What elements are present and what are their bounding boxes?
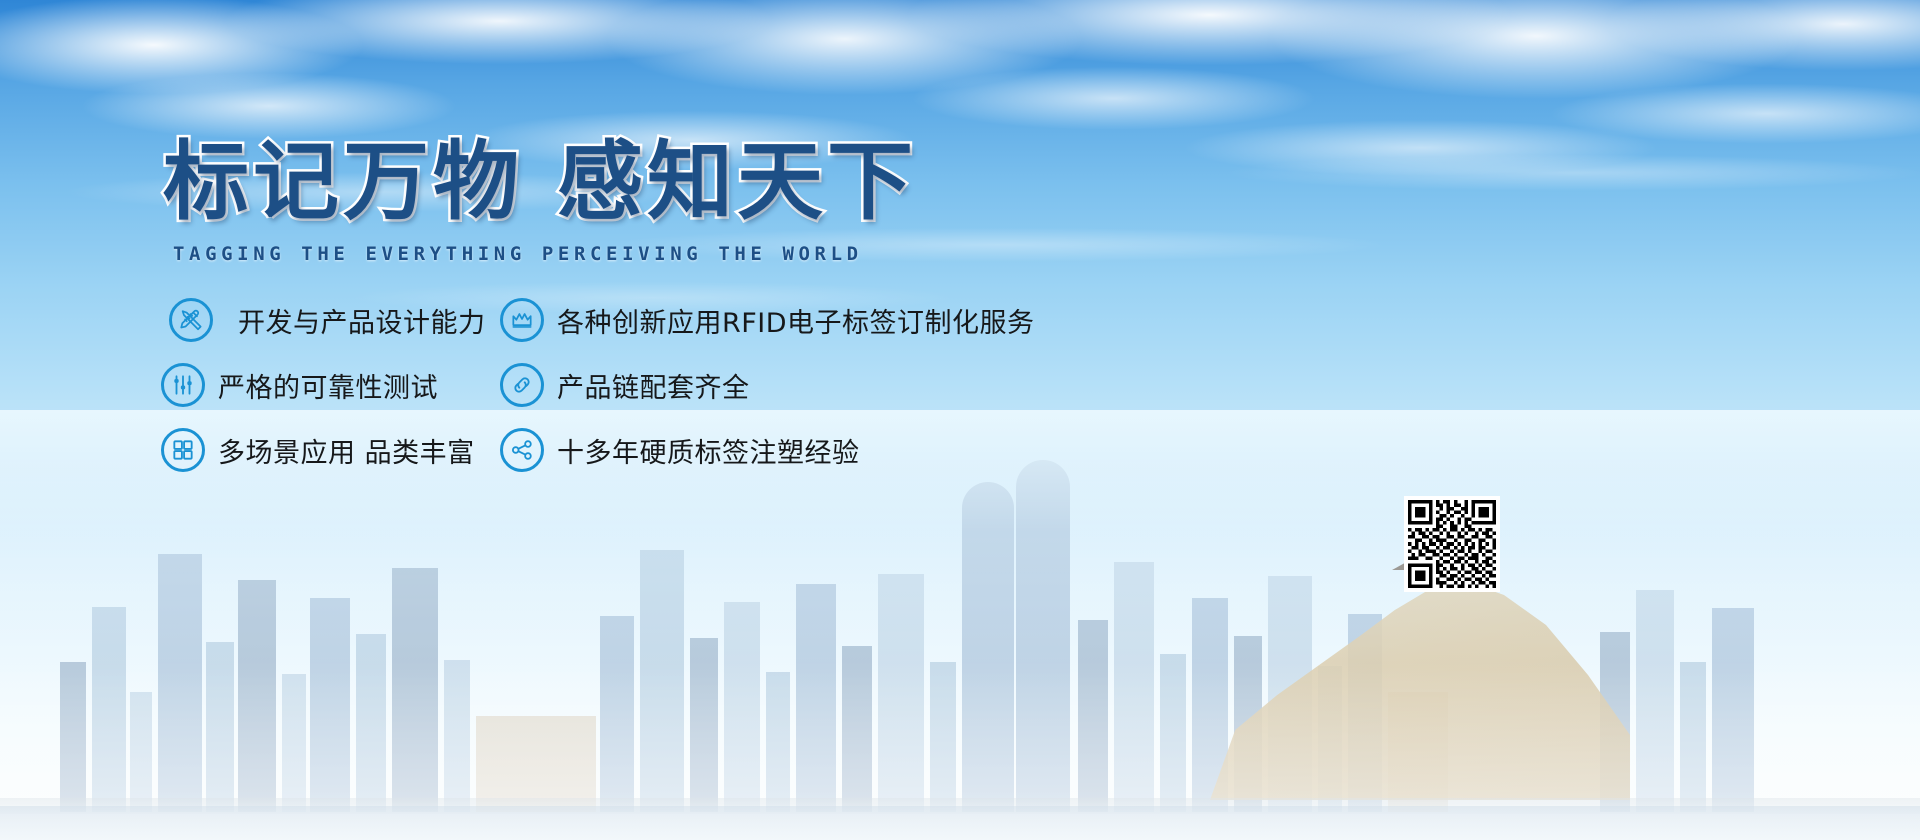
feature-item-molding-experience[interactable]: 十多年硬质标签注塑经验	[500, 418, 1035, 482]
waterfront	[0, 806, 1920, 840]
page-title: 标记万物 感知天下	[163, 136, 917, 229]
page-subtitle: TAGGING THE EVERYTHING PERCEIVING THE WO…	[173, 243, 917, 265]
feature-label: 各种创新应用RFID电子标签订制化服务	[557, 301, 1035, 340]
headline-block: 标记万物 感知天下 TAGGING THE EVERYTHING PERCEIV…	[163, 136, 917, 265]
feature-label: 十多年硬质标签注塑经验	[557, 431, 860, 470]
share-network-icon	[500, 428, 544, 472]
crown-icon	[500, 298, 544, 342]
feature-item-product-chain[interactable]: 产品链配套齐全	[500, 353, 1035, 417]
feature-item-rfid-customization[interactable]: 各种创新应用RFID电子标签订制化服务	[500, 288, 1035, 352]
banner-root: 标记万物 感知天下 TAGGING THE EVERYTHING PERCEIV…	[0, 0, 1920, 840]
atmospheric-haze-lower	[0, 660, 1920, 840]
link-chain-icon	[500, 363, 544, 407]
feature-label: 产品链配套齐全	[557, 366, 750, 405]
sliders-icon	[161, 363, 205, 407]
promenade	[0, 798, 1920, 814]
pencil-ruler-icon	[169, 298, 213, 342]
feature-label: 开发与产品设计能力	[238, 301, 486, 340]
cloud-band-upper	[0, 0, 1920, 150]
feature-item-multi-scenario[interactable]: 多场景应用 品类丰富	[155, 418, 500, 482]
feature-list: 开发与产品设计能力 各种创新应用RFID电子标签订制化服务	[155, 288, 1035, 482]
qr-code[interactable]	[1404, 496, 1500, 592]
feature-item-design-capability[interactable]: 开发与产品设计能力	[155, 288, 500, 352]
grid-layout-icon	[161, 428, 205, 472]
qr-code-svg	[1408, 500, 1496, 588]
feature-item-reliability-testing[interactable]: 严格的可靠性测试	[155, 353, 500, 417]
feature-label: 严格的可靠性测试	[218, 366, 438, 405]
city-skyline	[0, 420, 1920, 840]
feature-label: 多场景应用 品类丰富	[218, 431, 475, 470]
